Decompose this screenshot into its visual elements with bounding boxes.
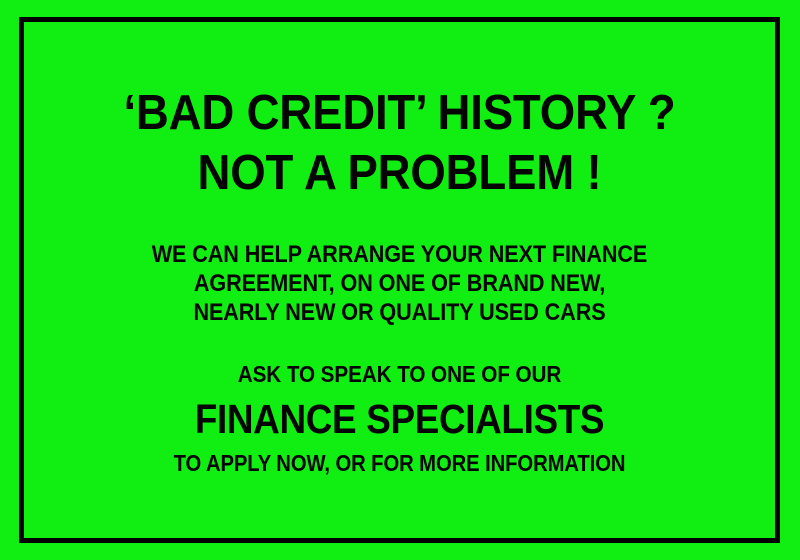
cta-headline-text: FINANCE SPECIALISTS bbox=[62, 394, 738, 444]
cta-footer-text: TO APPLY NOW, OR FOR MORE INFORMATION bbox=[69, 449, 730, 477]
body-line-3: NEARLY NEW OR QUALITY USED CARS bbox=[62, 298, 738, 327]
cta-lead-text: ASK TO SPEAK TO ONE OF OUR bbox=[62, 360, 738, 388]
body-text-block: WE CAN HELP ARRANGE YOUR NEXT FINANCE AG… bbox=[24, 240, 775, 327]
headline-line-1: ‘BAD CREDIT’ HISTORY ? bbox=[50, 84, 748, 142]
poster-content: ‘BAD CREDIT’ HISTORY ? NOT A PROBLEM ! W… bbox=[24, 22, 775, 538]
call-to-action-block: ASK TO SPEAK TO ONE OF OUR FINANCE SPECI… bbox=[24, 360, 775, 477]
headline-line-2: NOT A PROBLEM ! bbox=[50, 144, 748, 202]
body-line-2: AGREEMENT, ON ONE OF BRAND NEW, bbox=[62, 269, 738, 298]
body-line-1: WE CAN HELP ARRANGE YOUR NEXT FINANCE bbox=[62, 240, 738, 269]
finance-advert-poster: ‘BAD CREDIT’ HISTORY ? NOT A PROBLEM ! W… bbox=[0, 0, 800, 560]
headline-block: ‘BAD CREDIT’ HISTORY ? NOT A PROBLEM ! bbox=[24, 84, 775, 202]
